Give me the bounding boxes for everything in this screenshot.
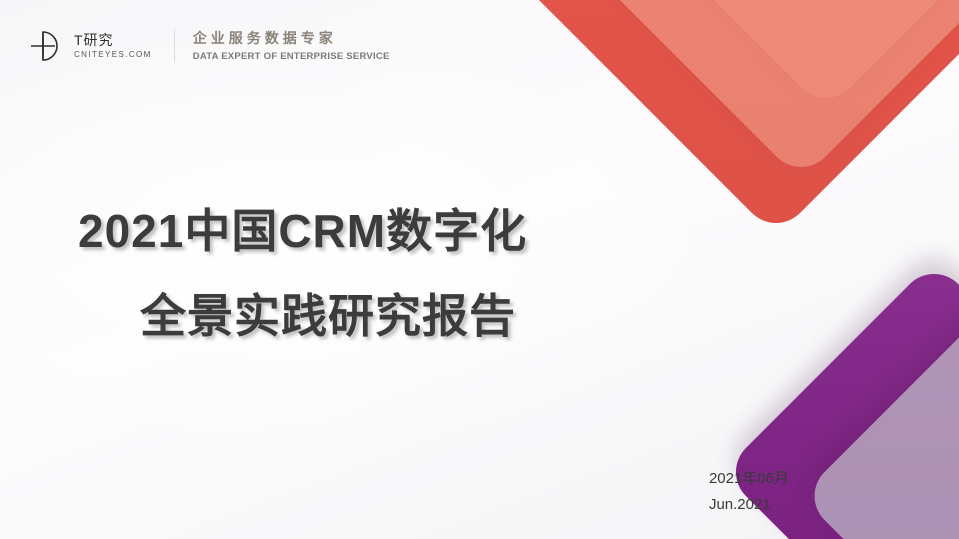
title-line-1: 2021中国CRM数字化	[78, 198, 578, 265]
tagline-en: DATA EXPERT OF ENTERPRISE SERVICE	[193, 51, 390, 62]
tagline-cn: 企业服务数据专家	[193, 30, 390, 47]
brand-tagline: 企业服务数据专家 DATA EXPERT OF ENTERPRISE SERVI…	[193, 30, 390, 62]
publication-date: 2021年06月 Jun.2021	[709, 465, 789, 518]
brand-name-cn: T研究	[74, 33, 152, 47]
brand-wordmark: T研究 CNITEYES.COM	[74, 33, 152, 59]
title-slide: T研究 CNITEYES.COM 企业服务数据专家 DATA EXPERT OF…	[0, 0, 959, 539]
brand-divider	[174, 29, 175, 63]
date-cn: 2021年06月	[709, 465, 789, 494]
brand-domain: CNITEYES.COM	[74, 51, 152, 59]
title-line-2: 全景实践研究报告	[78, 283, 578, 350]
page-title: 2021中国CRM数字化 全景实践研究报告	[78, 198, 578, 349]
date-en: Jun.2021	[709, 493, 789, 517]
brand-header: T研究 CNITEYES.COM 企业服务数据专家 DATA EXPERT OF…	[26, 24, 390, 68]
cniteyes-d-monogram-icon	[26, 24, 70, 68]
